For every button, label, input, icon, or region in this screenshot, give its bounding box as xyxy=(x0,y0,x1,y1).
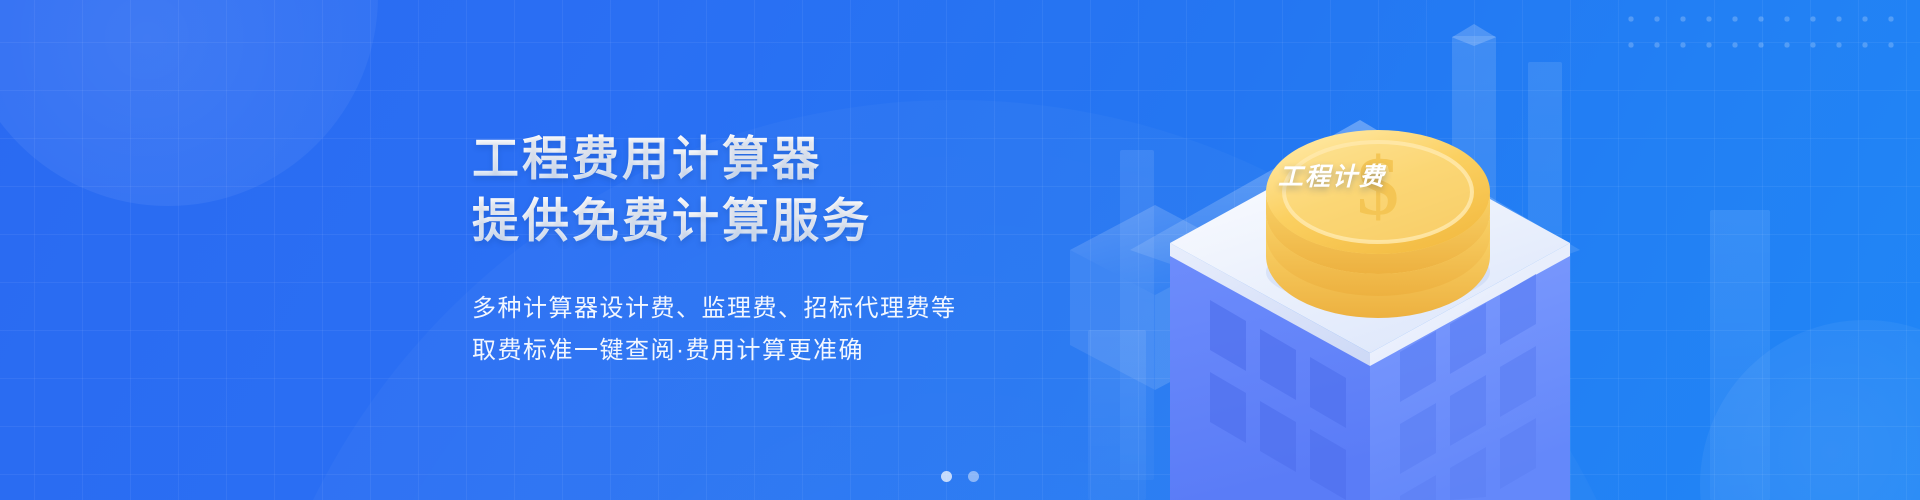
banner-copy: 工程费用计算器 提供免费计算服务 多种计算器设计费、监理费、招标代理费等 取费标… xyxy=(472,128,957,372)
banner-headline-line-2: 提供免费计算服务 xyxy=(472,190,957,252)
banner-illustration: $ 工程计费 xyxy=(1060,0,1920,500)
illustration-badge-label: 工程计费 xyxy=(1278,157,1386,193)
banner-headline-line-1: 工程费用计算器 xyxy=(472,128,957,190)
carousel-dot-1[interactable] xyxy=(941,471,952,482)
isometric-building-illustration: $ xyxy=(1060,0,1920,500)
hero-banner: 工程费用计算器 提供免费计算服务 多种计算器设计费、监理费、招标代理费等 取费标… xyxy=(0,0,1920,500)
banner-description-line-1: 多种计算器设计费、监理费、招标代理费等 xyxy=(472,288,957,330)
carousel-dot-2[interactable] xyxy=(968,471,979,482)
banner-description-line-2: 取费标准一键查阅·费用计算更准确 xyxy=(472,330,957,372)
carousel-dots[interactable] xyxy=(941,471,979,482)
